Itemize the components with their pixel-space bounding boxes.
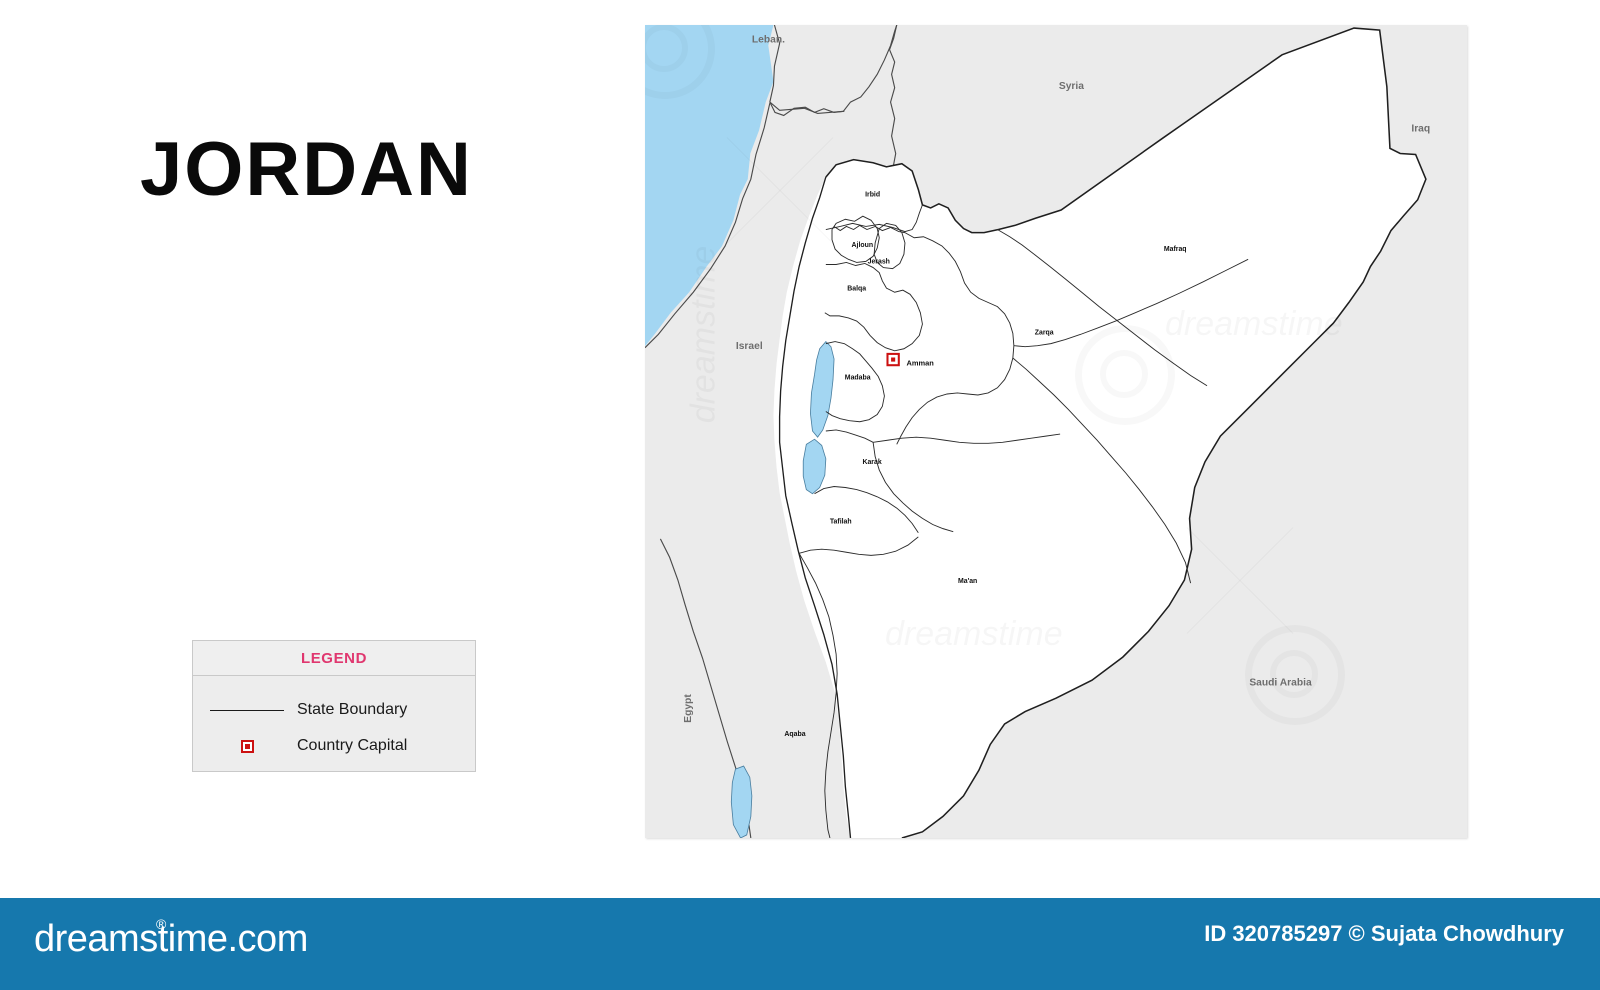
governorate-label-jerash: Jerash <box>868 258 890 265</box>
lebanon-boundary <box>770 25 897 115</box>
legend-items: State Boundary Country Capital <box>193 676 475 764</box>
page-title: JORDAN <box>140 132 473 208</box>
governorate-label-karak: Karak <box>862 459 881 466</box>
legend-item-country-capital: Country Capital <box>193 728 475 764</box>
governorate-label-aqaba: Aqaba <box>784 731 805 738</box>
state-boundary-line-icon <box>197 710 297 711</box>
neighbor-label-israel: Israel <box>736 341 763 352</box>
jordan-map-svg[interactable]: Leban. Syria Iraq Israel Egypt Saudi Ara… <box>645 25 1467 838</box>
legend-item-label: Country Capital <box>297 737 407 755</box>
country-capital-marker-icon <box>197 740 297 753</box>
neighbor-label-syria: Syria <box>1059 81 1084 92</box>
jordan-country-fill <box>773 28 1425 838</box>
legend-header: LEGEND <box>193 641 475 676</box>
capital-marker-amman[interactable] <box>887 354 898 365</box>
neighbor-label-egypt: Egypt <box>683 694 694 723</box>
legend-item-state-boundary: State Boundary <box>193 692 475 728</box>
mediterranean-sea <box>645 25 773 346</box>
legend-panel: LEGEND State Boundary Country Capital <box>192 640 476 772</box>
legend-title: LEGEND <box>301 650 367 667</box>
legend-item-label: State Boundary <box>297 701 407 719</box>
gulf-of-aqaba <box>731 766 752 838</box>
governorate-label-madaba: Madaba <box>845 375 871 382</box>
neighbor-label-lebanon: Leban. <box>752 35 785 46</box>
governorate-label-zarqa: Zarqa <box>1035 329 1054 336</box>
image-credit: ID 320785297 © Sujata Chowdhury <box>1204 921 1564 947</box>
capital-label-amman: Amman <box>906 359 934 368</box>
dreamstime-logo: dreamstime.com <box>34 918 308 961</box>
governorate-label-balqa: Balqa <box>847 286 866 293</box>
neighbor-label-iraq: Iraq <box>1411 123 1430 134</box>
governorate-label-maan: Ma'an <box>958 578 977 585</box>
governorate-label-irbid: Irbid <box>865 192 880 199</box>
registered-trademark-icon: ® <box>156 916 166 932</box>
governorate-label-ajloun: Ajloun <box>852 242 874 249</box>
map-panel[interactable]: dreamstime dreamstime dreamstime <box>645 25 1467 838</box>
neighbor-label-saudi-arabia: Saudi Arabia <box>1249 677 1312 688</box>
capital-marker-dot-icon <box>891 357 895 361</box>
governorate-label-tafilah: Tafilah <box>830 518 852 525</box>
governorate-label-mafraq: Mafraq <box>1164 246 1187 253</box>
